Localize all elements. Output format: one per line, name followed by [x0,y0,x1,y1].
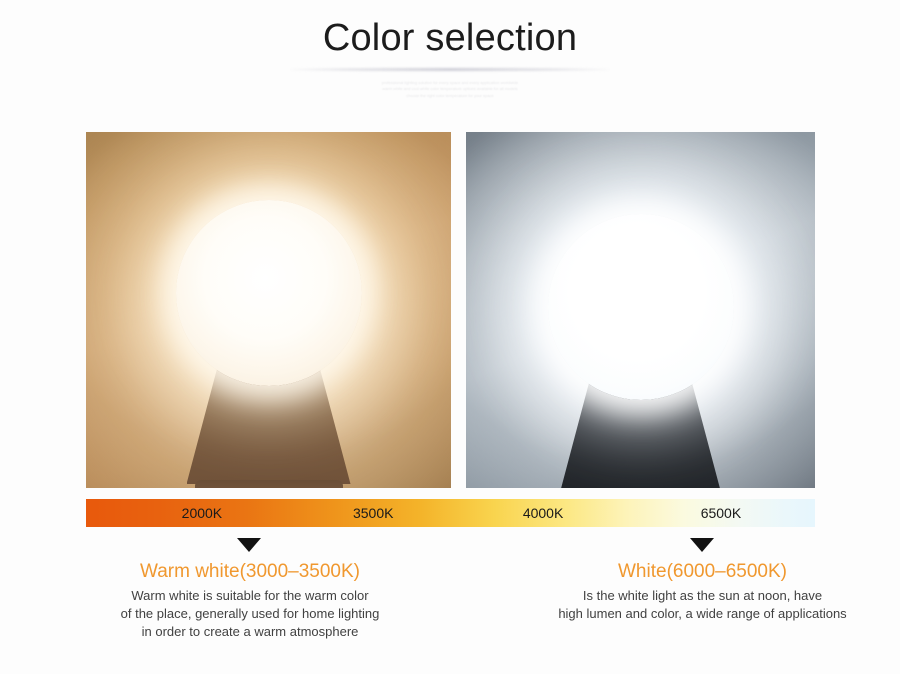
title-ghost-line-2: warm white and cool white color temperat… [290,86,610,91]
page-title: Color selection [0,14,900,62]
warm-white-description-line-1: Warm white is suitable for the warm colo… [100,587,400,605]
white-pointer-triangle-icon [690,538,714,552]
title-ghost-line-1: professional lighting solution for every… [290,80,610,85]
cool-bulb-globe [548,214,734,400]
warm-white-description-line-3: in order to create a warm atmosphere [100,623,400,641]
title-reflection-artifact: professional lighting solution for every… [290,66,610,106]
title-sheen-line [290,68,610,71]
kelvin-tick-6500k: 6500K [666,499,775,527]
warm-bulb-globe [176,200,362,386]
warm-white-pointer-triangle-icon [237,538,261,552]
white-heading: White(6000–6500K) [525,560,880,584]
warm-bulb-cap [195,480,343,488]
white-callout: White(6000–6500K) Is the white light as … [525,560,880,623]
warm-white-heading: Warm white(3000–3500K) [100,560,400,584]
cool-white-photo [466,132,815,488]
kelvin-tick-2000k: 2000K [86,499,318,527]
kelvin-tick-3500k: 3500K [318,499,429,527]
warm-white-description-line-2: of the place, generally used for home li… [100,605,400,623]
white-description-line-1: Is the white light as the sun at noon, h… [525,587,880,605]
title-ghost-line-3: choose the right color temperature for y… [290,93,610,98]
white-description-line-2: high lumen and color, a wide range of ap… [525,605,880,623]
warm-white-description: Warm white is suitable for the warm colo… [100,587,400,641]
kelvin-tick-4000k: 4000K [488,499,597,527]
color-temperature-gradient-bar: 2000K 3500K 4000K 6500K [86,499,815,527]
warm-white-photo [86,132,451,488]
warm-white-callout: Warm white(3000–3500K) Warm white is sui… [100,560,400,641]
white-description: Is the white light as the sun at noon, h… [525,587,880,623]
